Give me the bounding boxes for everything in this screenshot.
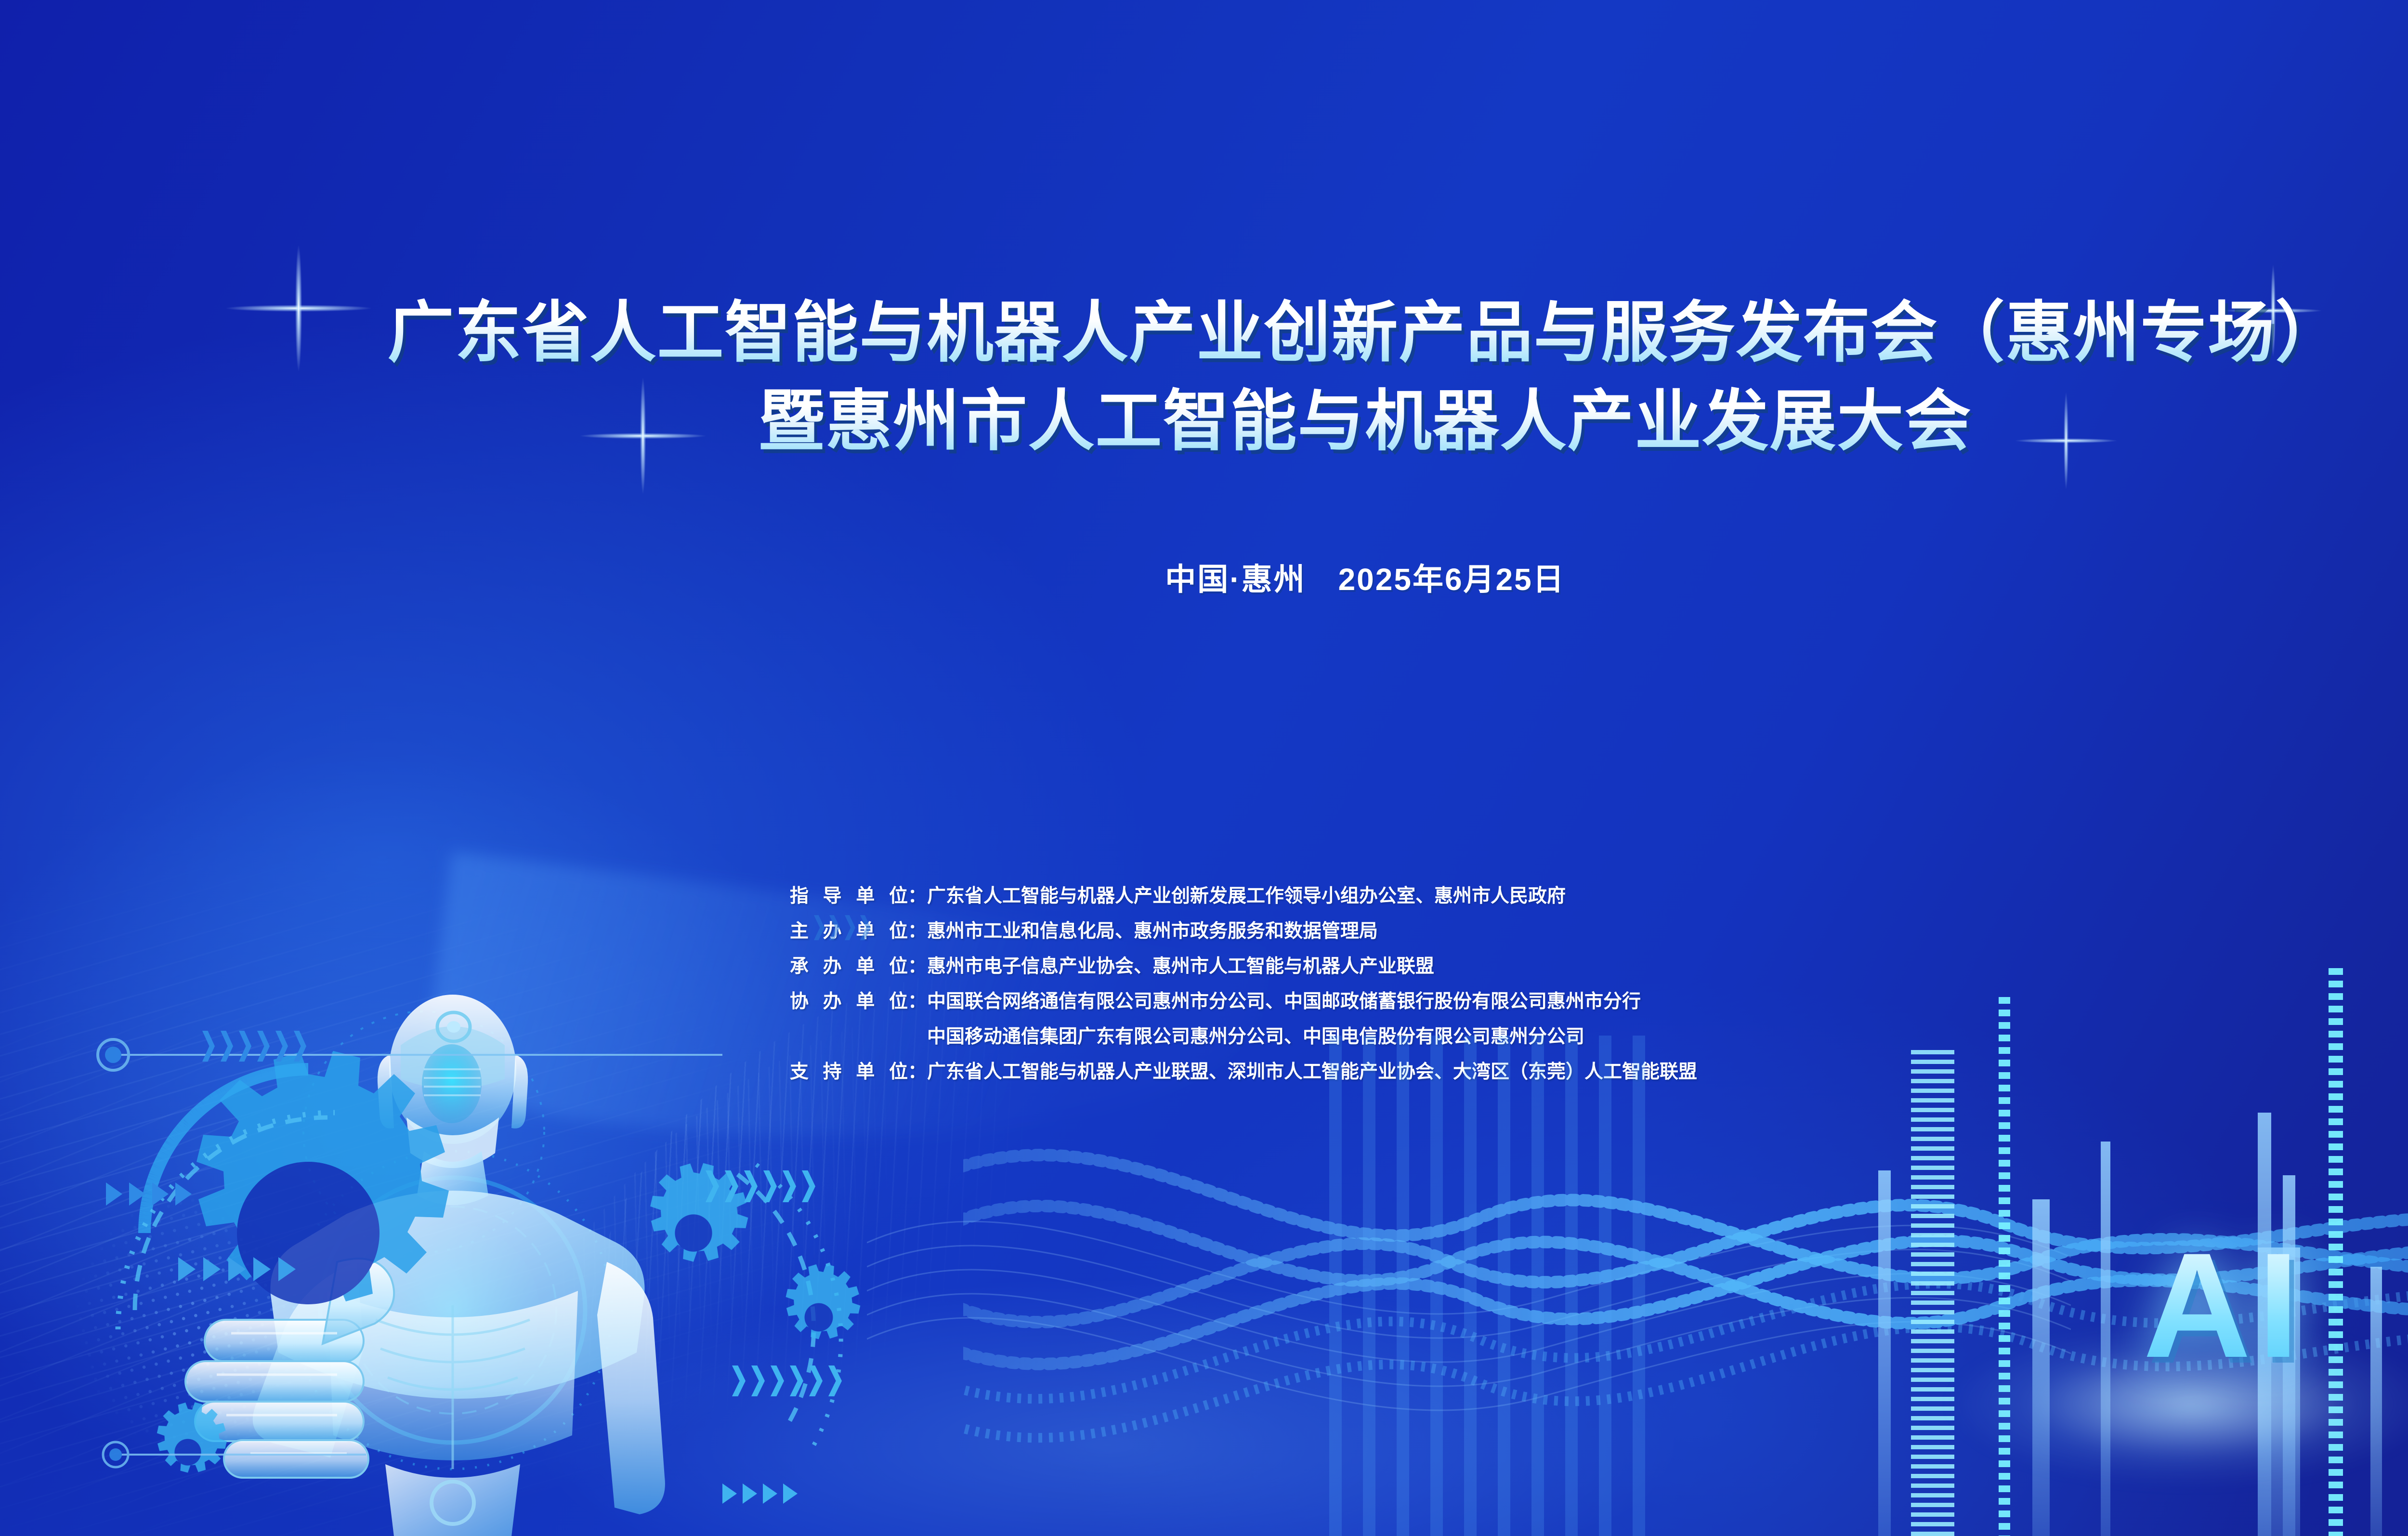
organization-row: 承办单位：惠州市电子信息产业协会、惠州市人工智能与机器人产业联盟 bbox=[790, 954, 1697, 979]
bar bbox=[1911, 1050, 1954, 1536]
chevron-arrows-icon bbox=[202, 1031, 306, 1062]
title-line-1: 广东省人工智能与机器人产业创新产品与服务发布会（惠州专场） bbox=[0, 289, 2408, 378]
poster-title: 广东省人工智能与机器人产业创新产品与服务发布会（惠州专场） 暨惠州市人工智能与机… bbox=[0, 289, 2408, 466]
organization-row: 指导单位：广东省人工智能与机器人产业创新发展工作领导小组办公室、惠州市人民政府 bbox=[790, 884, 1697, 909]
organization-value: 广东省人工智能与机器人产业创新发展工作领导小组办公室、惠州市人民政府 bbox=[927, 884, 1697, 909]
organization-label: 指导单位 bbox=[790, 884, 908, 909]
triangle-arrows-icon bbox=[178, 1257, 296, 1281]
organization-value: 中国联合网络通信有限公司惠州市分公司、中国邮政储蓄银行股份有限公司惠州市分行 bbox=[927, 989, 1697, 1014]
organization-value: 惠州市电子信息产业协会、惠州市人工智能与机器人产业联盟 bbox=[927, 954, 1697, 979]
ai-logo-text: AI bbox=[2143, 1231, 2306, 1380]
triangle-arrows-icon bbox=[106, 1182, 192, 1206]
organization-colon: ： bbox=[908, 989, 927, 1014]
organization-colon: ： bbox=[908, 954, 927, 979]
bar bbox=[1878, 1170, 1891, 1536]
organization-label: 支持单位 bbox=[790, 1060, 908, 1085]
robot-figure bbox=[87, 925, 722, 1536]
organization-value: 惠州市工业和信息化局、惠州市政务服务和数据管理局 bbox=[927, 919, 1697, 944]
poster-subtitle-location-date: 中国·惠州 2025年6月25日 bbox=[0, 555, 2408, 599]
triangle-arrows-icon bbox=[722, 1483, 798, 1504]
organization-colon: ： bbox=[908, 884, 927, 909]
organization-row: 协办单位：中国联合网络通信有限公司惠州市分公司、中国邮政储蓄银行股份有限公司惠州… bbox=[790, 989, 1697, 1014]
organization-colon: ： bbox=[908, 1060, 927, 1085]
poster-canvas: 广东省人工智能与机器人产业创新产品与服务发布会（惠州专场） 暨惠州市人工智能与机… bbox=[0, 0, 2408, 1536]
title-line-2: 暨惠州市人工智能与机器人产业发展大会 bbox=[0, 378, 2408, 466]
organization-row: 主办单位：惠州市工业和信息化局、惠州市政务服务和数据管理局 bbox=[790, 919, 1697, 944]
organization-colon: ： bbox=[908, 919, 927, 944]
chevron-arrows-icon bbox=[706, 1170, 815, 1202]
organization-label: 承办单位 bbox=[790, 954, 908, 979]
chevron-arrows-icon bbox=[814, 915, 871, 940]
chevron-arrows-icon bbox=[732, 1365, 842, 1396]
organization-label: 协办单位 bbox=[790, 989, 908, 1014]
